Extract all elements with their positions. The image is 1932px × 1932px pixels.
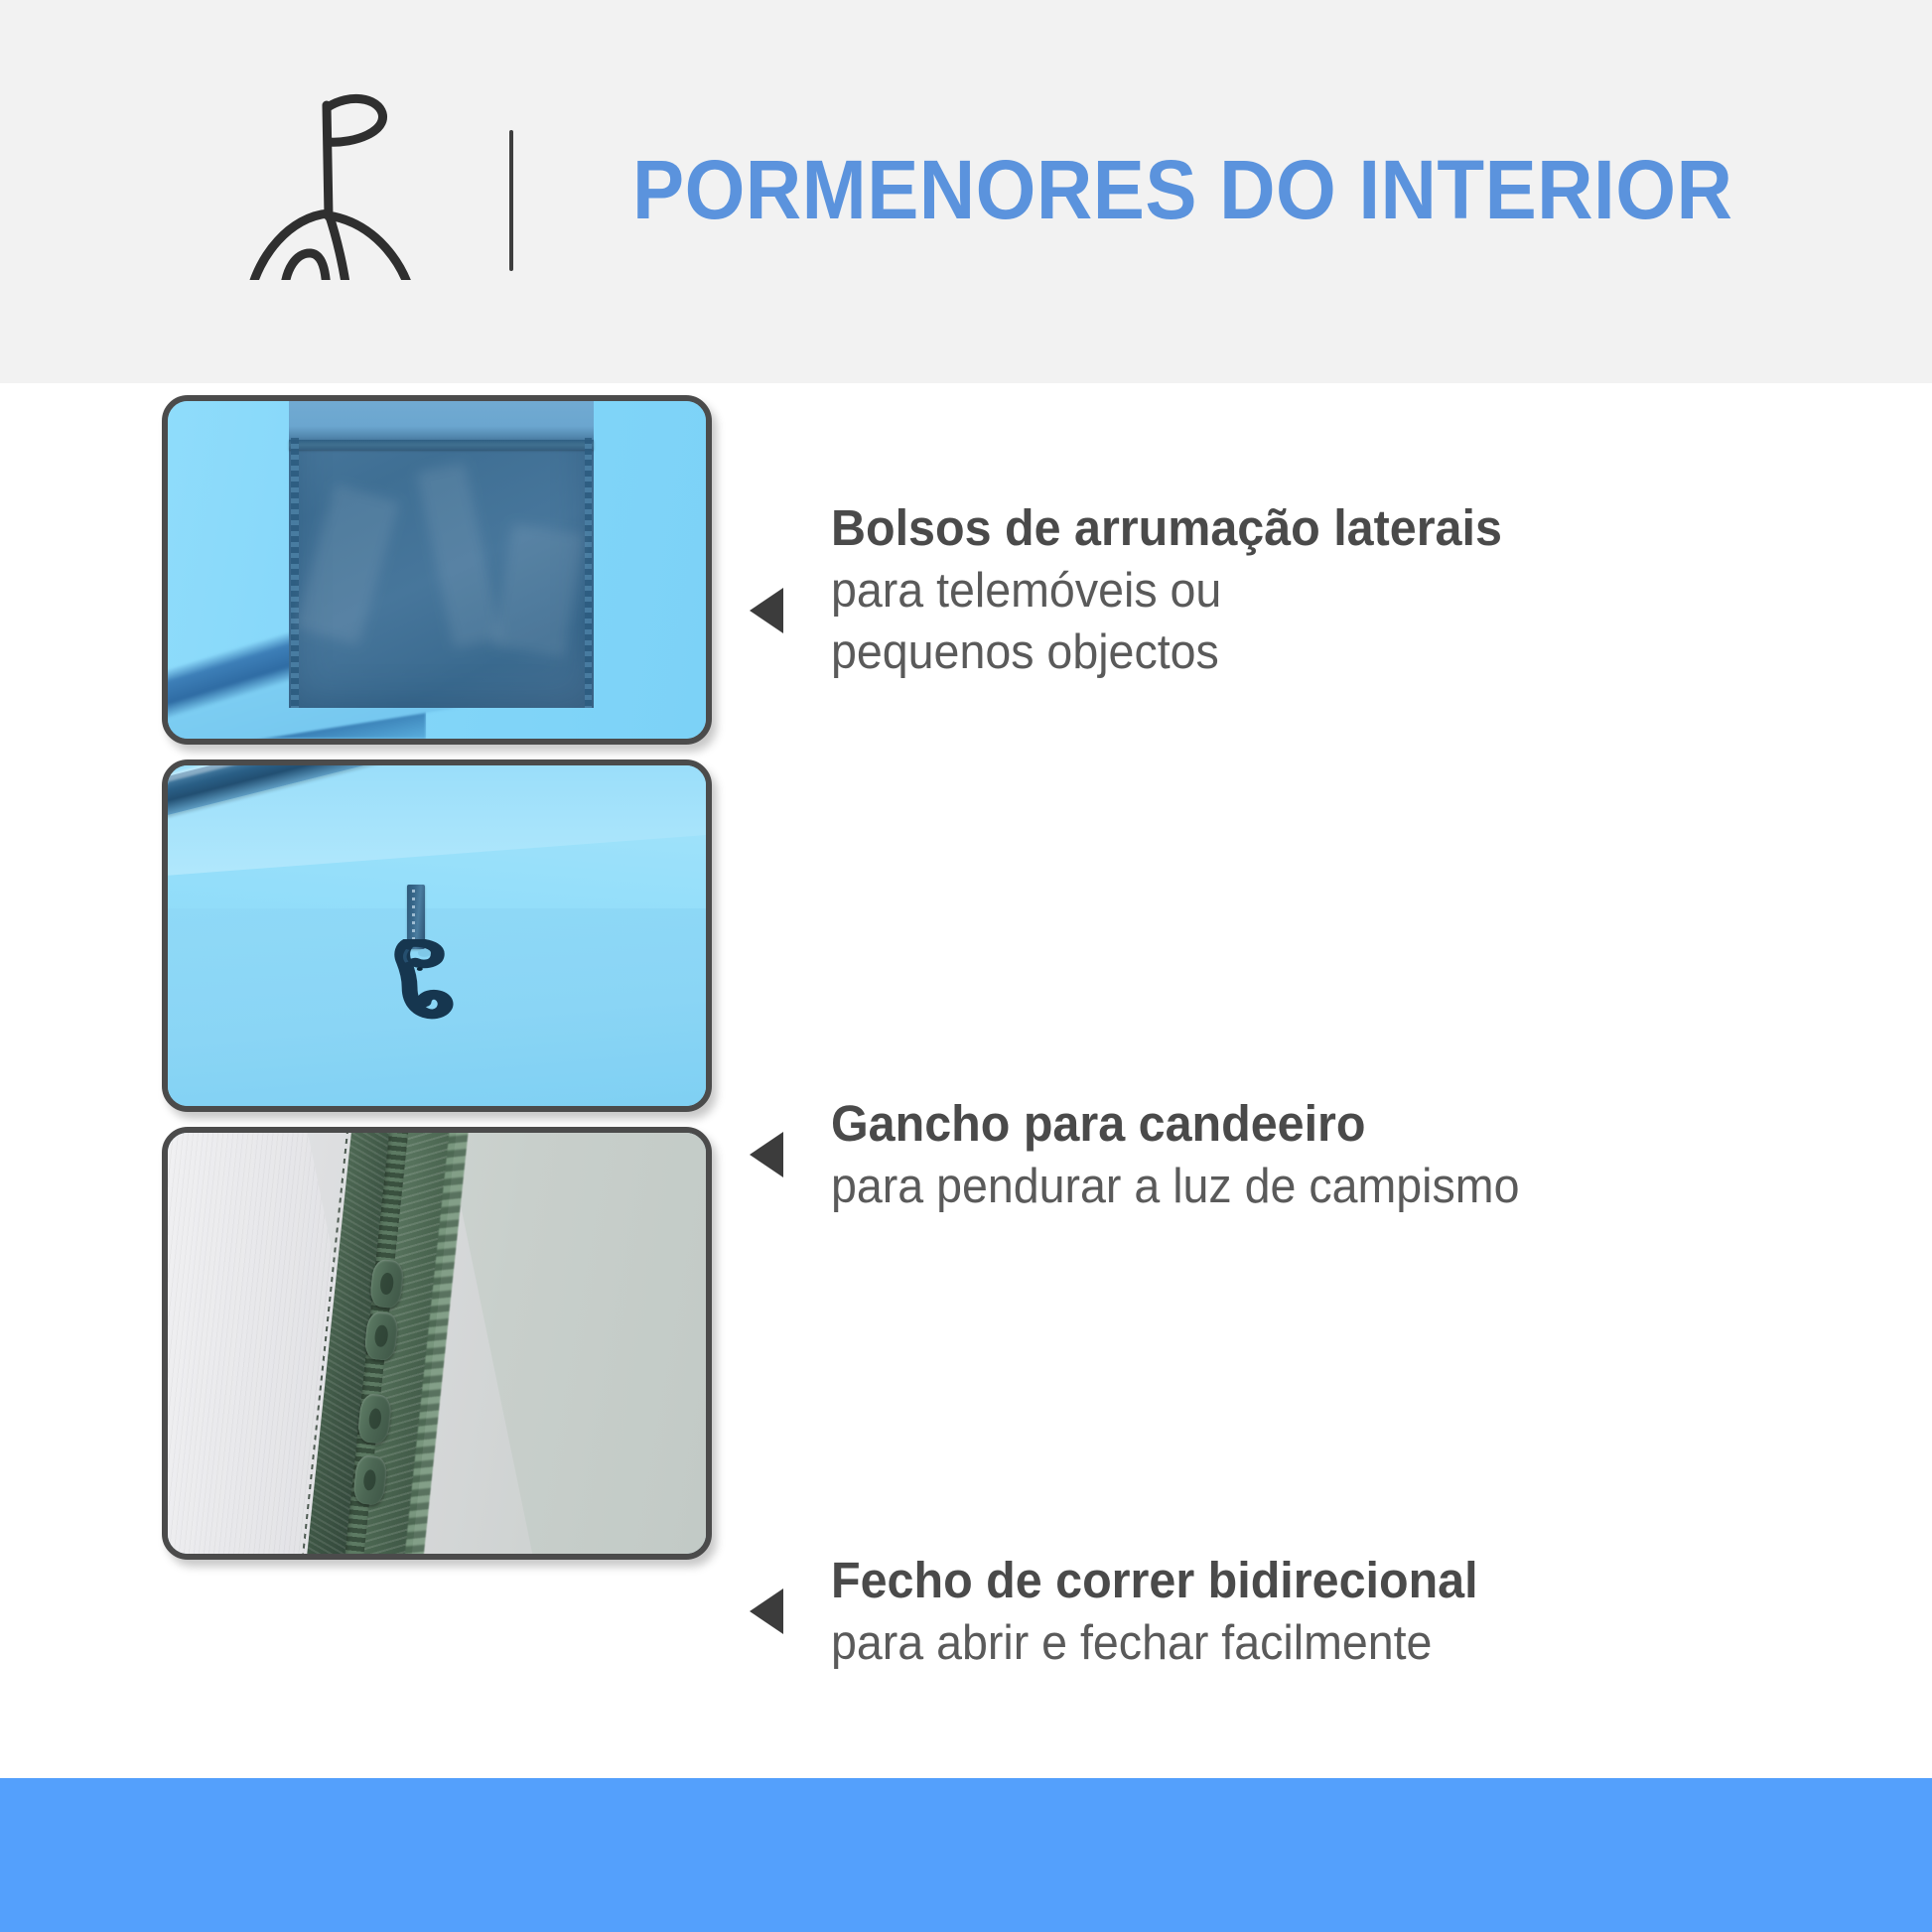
callout-heading: Gancho para candeeiro: [831, 1092, 1519, 1156]
photo-content-pocket: [168, 401, 706, 739]
pocket-hem: [289, 440, 593, 450]
pocket-upper-panel: [289, 398, 593, 445]
photo-content-zipper: [168, 1133, 706, 1554]
callout-text-block: Fecho de correr bidirecional para abrir …: [831, 1549, 1512, 1674]
callout-text-block: Bolsos de arrumação laterais para telemó…: [831, 496, 1538, 683]
header-divider: [509, 130, 513, 271]
left-pointing-triangle-icon: [750, 588, 783, 633]
callout-subtitle-line: pequenos objectos: [831, 621, 1502, 683]
storage-pocket: [289, 398, 593, 709]
pocket-left-stitching: [291, 438, 298, 708]
callout-subtitle-line: para telemóveis ou: [831, 560, 1502, 621]
fabric-fold: [295, 484, 400, 646]
pocket-right-stitching: [585, 438, 592, 708]
callout-text-block: Gancho para candeeiro para pendurar a lu…: [831, 1092, 1556, 1217]
page-title: PORMENORES DO INTERIOR: [632, 138, 1732, 241]
left-pointing-triangle-icon: [750, 1588, 783, 1634]
callout-lantern-hook: Gancho para candeeiro para pendurar a lu…: [750, 1092, 1556, 1217]
header-bar: PORMENORES DO INTERIOR: [0, 0, 1932, 383]
callout-two-way-zipper: Fecho de correr bidirecional para abrir …: [750, 1549, 1512, 1674]
photo-content-hook: [168, 765, 706, 1106]
lantern-hook-icon: [391, 939, 456, 1048]
two-way-zipper-photo: [162, 1127, 712, 1560]
fabric-fold: [492, 523, 584, 657]
callout-subtitle-line: para abrir e fechar facilmente: [831, 1612, 1478, 1674]
tent-with-flag-icon: [226, 71, 425, 280]
left-pointing-triangle-icon: [750, 1132, 783, 1177]
callout-heading: Fecho de correr bidirecional: [831, 1549, 1478, 1612]
fabric-fold: [417, 463, 502, 649]
infographic-page: PORMENORES DO INTERIOR: [0, 0, 1932, 1932]
side-storage-pocket-photo: [162, 395, 712, 745]
callout-side-storage-pocket: Bolsos de arrumação laterais para telemó…: [750, 496, 1538, 683]
callout-heading: Bolsos de arrumação laterais: [831, 496, 1502, 560]
callout-subtitle-line: para pendurar a luz de campismo: [831, 1156, 1519, 1217]
footer-band: [0, 1778, 1932, 1932]
lantern-hook-photo: [162, 759, 712, 1112]
